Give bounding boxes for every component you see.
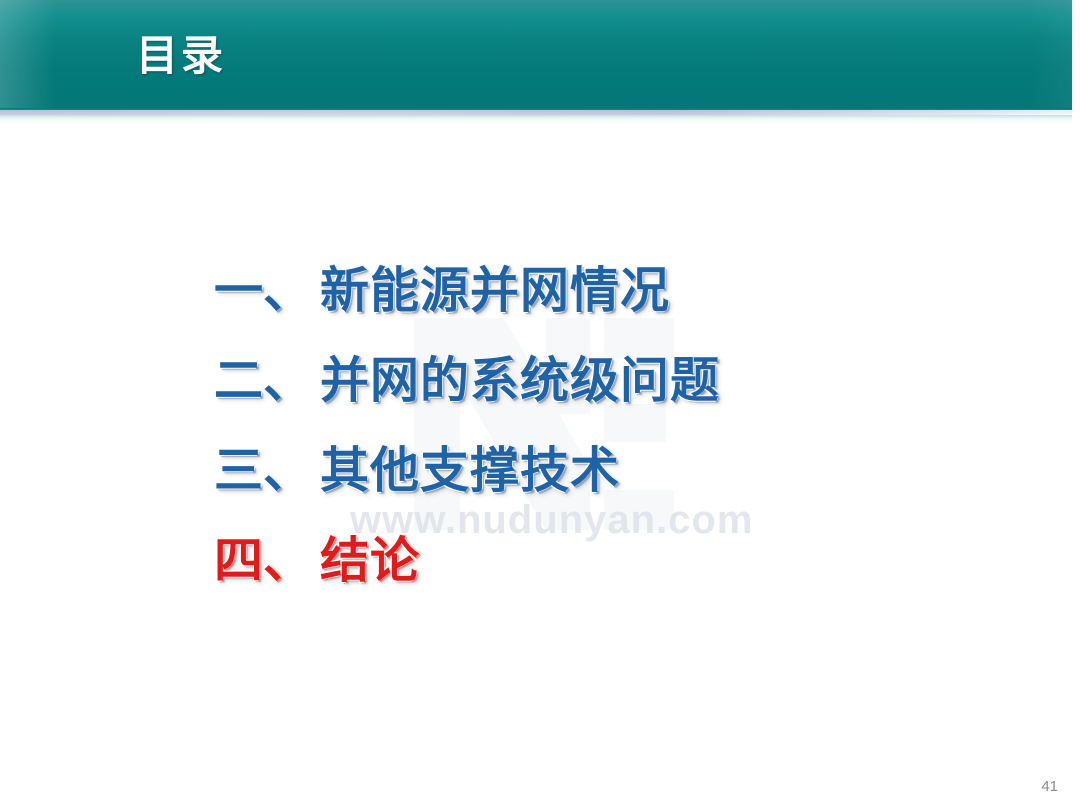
toc-item-3-label: 其他支撑技术 [320,442,620,500]
toc-item-1[interactable]: 一、 新能源并网情况 [214,262,934,352]
toc-item-3-index: 三、 [214,442,320,500]
page-number: 41 [1041,778,1058,796]
toc-list: 一、 新能源并网情况 二、 并网的系统级问题 三、 其他支撑技术 四、 结论 [214,262,934,622]
toc-item-4[interactable]: 四、 结论 [214,532,934,622]
toc-item-1-index: 一、 [214,262,320,320]
toc-item-2[interactable]: 二、 并网的系统级问题 [214,352,934,442]
toc-item-1-label: 新能源并网情况 [320,262,670,320]
page-title: 目录 [136,33,226,79]
toc-item-3[interactable]: 三、 其他支撑技术 [214,442,934,532]
toc-item-4-label: 结论 [320,532,420,590]
toc-item-2-index: 二、 [214,352,320,410]
toc-item-2-label: 并网的系统级问题 [320,352,720,410]
toc-item-4-index: 四、 [214,532,320,590]
slide-canvas: 目录 www.nudunyan.com 一、 新能源并网情况 二、 并网的系统级… [0,0,1080,810]
header-underline-rule [0,110,1080,115]
